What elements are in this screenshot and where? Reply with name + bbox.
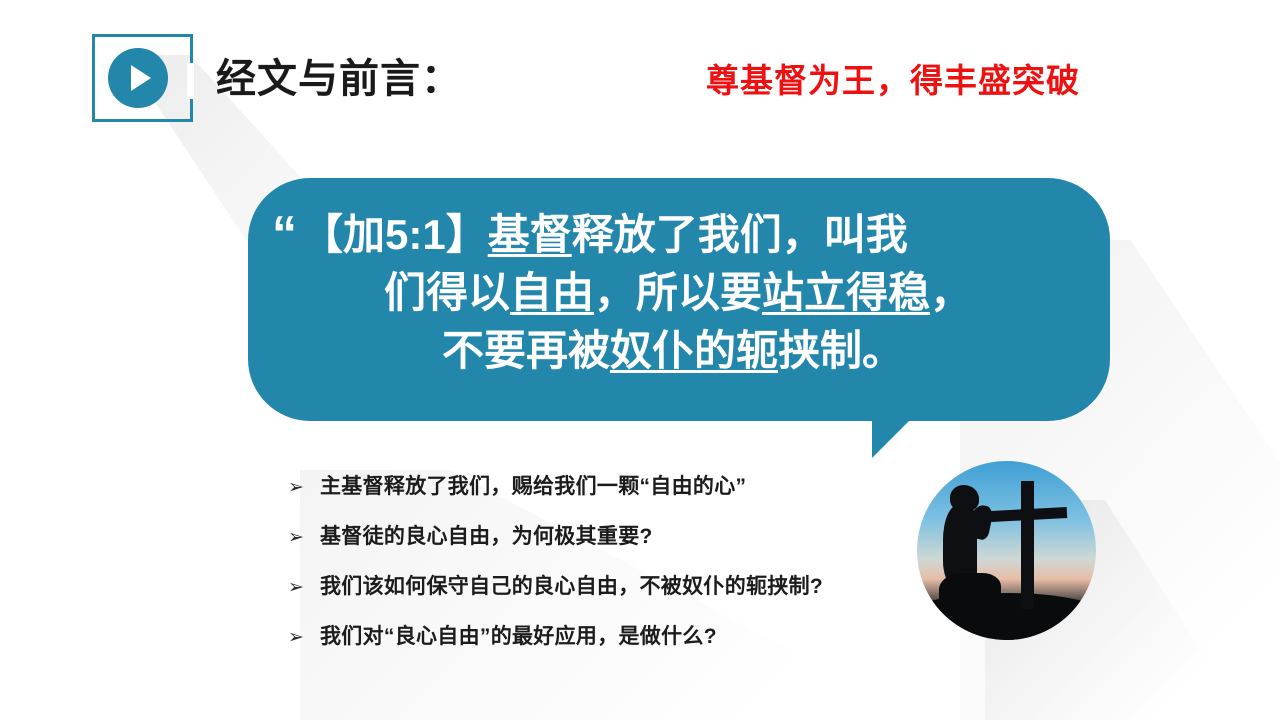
list-item-label: 基督徒的良心自由，为何极其重要? — [320, 520, 653, 550]
quote-underline-1: 基督 — [488, 211, 572, 258]
photo-person-legs — [939, 573, 1001, 617]
logo-frame-gap — [187, 63, 194, 99]
bullet-list: ➢ 主基督释放了我们，赐给我们一颗“自由的心” ➢ 基督徒的良心自由，为何极其重… — [288, 470, 928, 670]
arrow-bullet-icon: ➢ — [288, 576, 320, 599]
list-item-label: 我们该如何保守自己的良心自由，不被奴仆的轭挟制? — [320, 570, 823, 600]
list-item-label: 主基督释放了我们，赐给我们一颗“自由的心” — [320, 470, 746, 500]
list-item[interactable]: ➢ 我们该如何保守自己的良心自由，不被奴仆的轭挟制? — [288, 570, 928, 600]
list-item[interactable]: ➢ 基督徒的良心自由，为何极其重要? — [288, 520, 928, 550]
quote-line2-head: 们得以 — [384, 269, 510, 316]
quote-line2-tail: ， — [930, 269, 972, 316]
page-title: 经文与前言： — [216, 46, 462, 104]
list-item-label: 我们对“良心自由”的最好应用，是做什么? — [320, 620, 717, 650]
quote-open-mark: “ — [272, 209, 295, 259]
arrow-bullet-icon: ➢ — [288, 626, 320, 649]
slide-canvas: 经文与前言： 尊基督为王，得丰盛突破 “【加5:1】基督释放了我们，叫我 们得以… — [0, 0, 1280, 720]
play-button-icon[interactable] — [108, 48, 168, 108]
list-item[interactable]: ➢ 我们对“良心自由”的最好应用，是做什么? — [288, 620, 928, 650]
quote-line-1: “【加5:1】基督释放了我们，叫我 — [268, 206, 1088, 264]
photo-person-head — [950, 485, 979, 511]
quote-underline-2: 自由 — [510, 269, 594, 316]
quote-text: “【加5:1】基督释放了我们，叫我 们得以自由，所以要站立得稳， 不要再被奴仆的… — [268, 206, 1088, 380]
quote-line3-tail: 挟制。 — [778, 327, 904, 374]
praying-silhouette-photo — [917, 461, 1096, 640]
quote-underline-3: 站立得稳 — [762, 269, 930, 316]
quote-line-3: 不要再被奴仆的轭挟制。 — [268, 322, 1088, 380]
quote-underline-4: 奴仆的轭 — [610, 327, 778, 374]
cross-horizontal-icon — [991, 507, 1067, 522]
cross-vertical-icon — [1021, 481, 1034, 609]
page-subtitle: 尊基督为王，得丰盛突破 — [706, 54, 1080, 102]
play-triangle-icon — [131, 65, 151, 91]
arrow-bullet-icon: ➢ — [288, 526, 320, 549]
list-item[interactable]: ➢ 主基督释放了我们，赐给我们一颗“自由的心” — [288, 470, 928, 500]
quote-line3-head: 不要再被 — [442, 327, 610, 374]
quote-line1-tail: 释放了我们，叫我 — [572, 211, 908, 258]
quote-bubble-tail — [872, 418, 912, 458]
quote-line2-mid: ，所以要 — [594, 269, 762, 316]
arrow-bullet-icon: ➢ — [288, 476, 320, 499]
quote-reference: 【加5:1】 — [301, 211, 488, 258]
quote-line-2: 们得以自由，所以要站立得稳， — [268, 264, 1088, 322]
